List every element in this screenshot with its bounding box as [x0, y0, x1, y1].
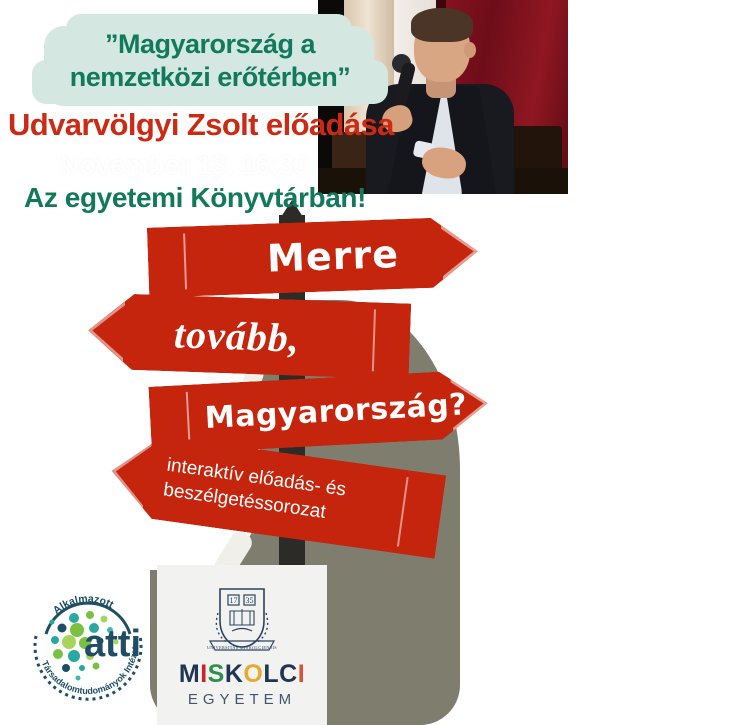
- atti-logo: atti Alkalmazott Társadalomtudományok In…: [22, 578, 154, 710]
- sign-tovabb: tovább,: [87, 292, 411, 379]
- sign-label: Merre: [147, 216, 479, 297]
- atti-arc-top: Alkalmazott: [51, 593, 116, 617]
- photo-ear: [464, 42, 476, 58]
- miskolci-wordmark: MISKOLCI EGYETEM: [157, 661, 327, 711]
- atti-logo-graphic: atti Alkalmazott Társadalomtudományok In…: [22, 578, 154, 710]
- photo-hair: [411, 8, 473, 42]
- crest-year-left: 17: [230, 596, 238, 605]
- crest-ribbon-text: UNIVERSITAS MISKOLCIENSIS: [207, 645, 277, 650]
- sign-merre: Merre: [147, 216, 479, 297]
- crest-year-right: 35: [246, 596, 254, 605]
- miskolci-name-sub: EGYETEM: [157, 689, 327, 711]
- miskolci-egyetem-card: 17 35 UNIVERSITAS MISKOLCIENSIS MISKOLCI…: [157, 565, 327, 725]
- miskolci-name-main: MISKOLCI: [157, 661, 327, 688]
- quote-banner: ”Magyarország a nemzetközi erőtérben”: [44, 26, 374, 106]
- event-venue-line: Az egyetemi Könyvtárban!: [24, 182, 444, 214]
- sign-label: tovább,: [87, 292, 411, 379]
- quote-title: ”Magyarország a nemzetközi erőtérben”: [32, 28, 388, 94]
- event-date-line: November 13. 16:30: [60, 150, 390, 180]
- miskolci-crest-icon: 17 35 UNIVERSITAS MISKOLCIENSIS: [198, 579, 286, 663]
- speaker-name-line: Udvarvölgyi Zsolt előadása: [8, 108, 438, 142]
- poster-canvas: ”Magyarország a nemzetközi erőtérben” Ud…: [0, 0, 738, 725]
- svg-text:Alkalmazott: Alkalmazott: [51, 593, 116, 617]
